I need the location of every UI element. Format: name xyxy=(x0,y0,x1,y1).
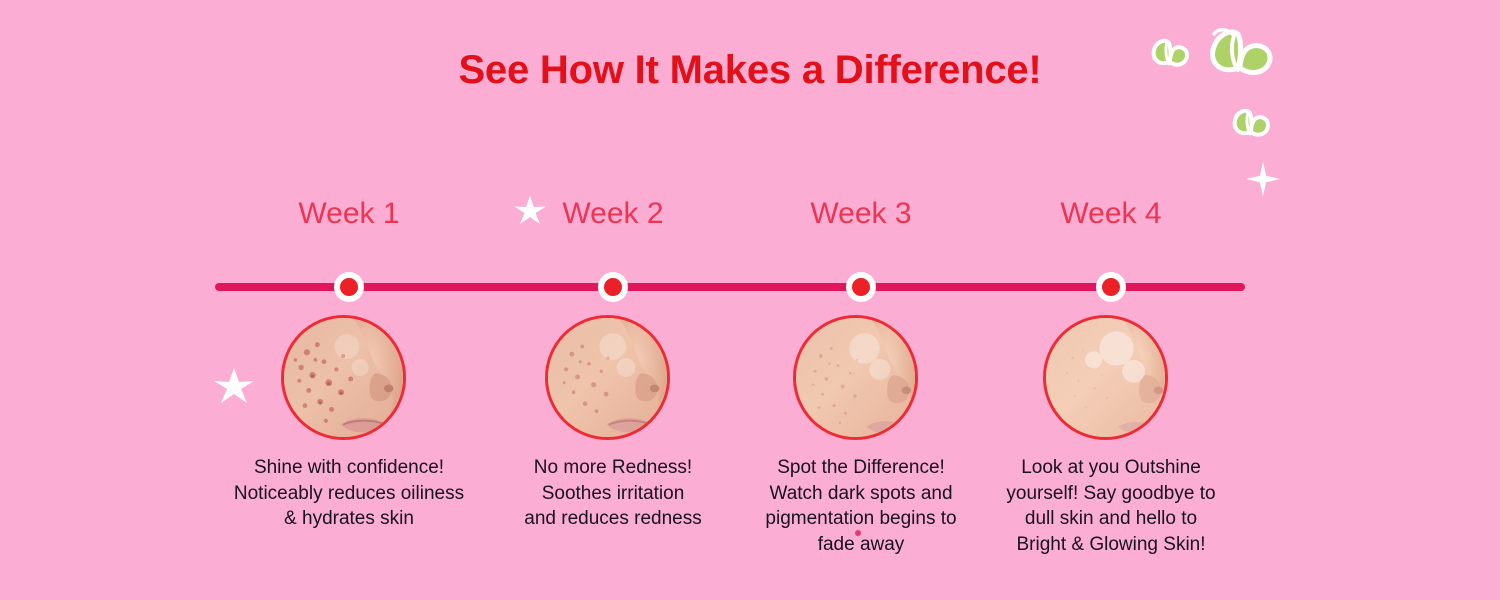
caption-week-4: Look at you Outshineyourself! Say goodby… xyxy=(983,455,1239,557)
caption-week-2: No more Redness!Soothes irritationand re… xyxy=(485,455,741,532)
week-label-1: Week 1 xyxy=(224,197,474,231)
marker-core xyxy=(852,278,870,296)
skin-photo-week-2 xyxy=(545,315,670,440)
caption-week-1: Shine with confidence!Noticeably reduces… xyxy=(221,455,477,532)
timeline-step-week-2[interactable]: Week 2 xyxy=(488,0,738,600)
week-label-4: Week 4 xyxy=(986,197,1236,231)
marker-core xyxy=(604,278,622,296)
timeline-step-week-3[interactable]: Week 3 xyxy=(736,0,986,600)
timeline-marker-week-4[interactable] xyxy=(1096,272,1126,302)
skin-photo-week-1 xyxy=(281,315,406,440)
timeline-marker-week-2[interactable] xyxy=(598,272,628,302)
timeline-marker-week-1[interactable] xyxy=(334,272,364,302)
stray-dot-artifact xyxy=(855,530,861,536)
timeline-step-week-1[interactable]: Week 1 xyxy=(224,0,474,600)
timeline-marker-week-3[interactable] xyxy=(846,272,876,302)
caption-week-3: Spot the Difference!Watch dark spots and… xyxy=(733,455,989,557)
week-label-3: Week 3 xyxy=(736,197,986,231)
skin-photo-week-4 xyxy=(1043,315,1168,440)
timeline-step-week-4[interactable]: Week 4 xyxy=(986,0,1236,600)
sparkle-star-top-right-icon xyxy=(1246,162,1280,196)
infographic-canvas: See How It Makes a Difference! xyxy=(0,0,1500,600)
skin-photo-week-3 xyxy=(793,315,918,440)
marker-core xyxy=(340,278,358,296)
marker-core xyxy=(1102,278,1120,296)
week-label-2: Week 2 xyxy=(488,197,738,231)
